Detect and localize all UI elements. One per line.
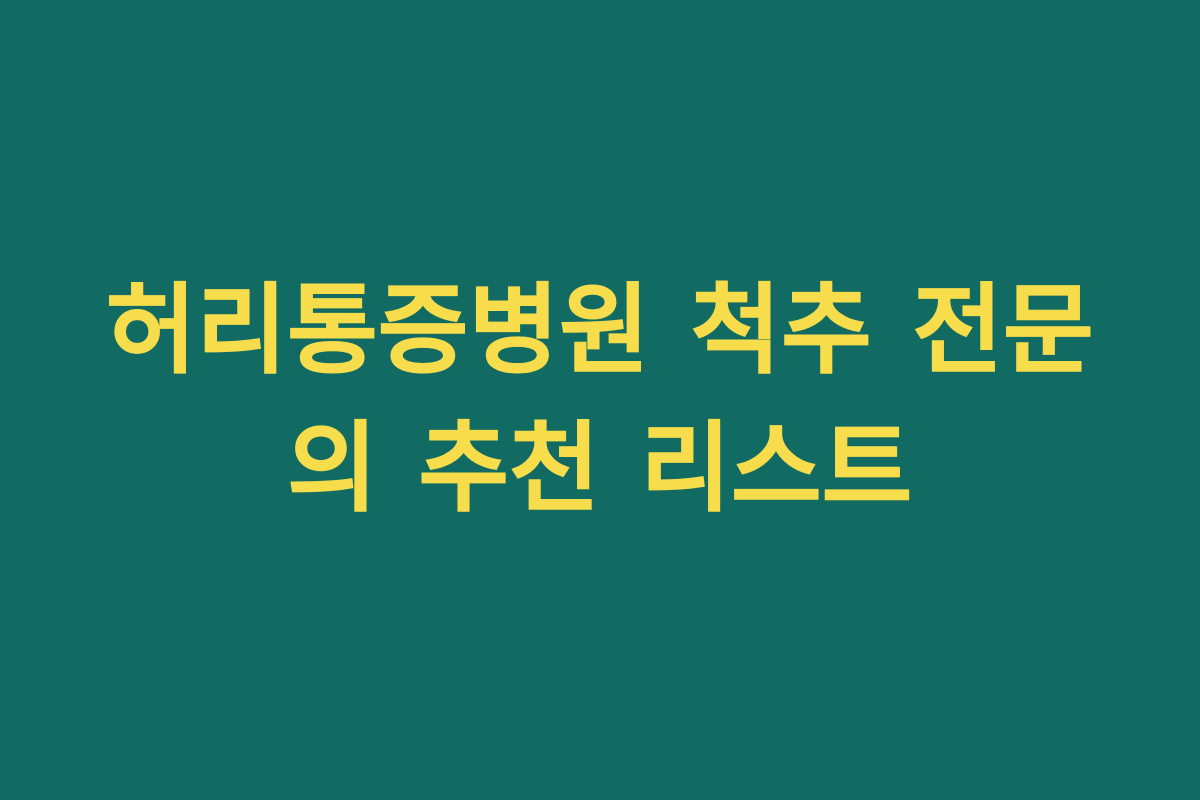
- banner-canvas: 허리통증병원 척추 전문의 추천 리스트: [0, 0, 1200, 800]
- banner-headline: 허리통증병원 척추 전문의 추천 리스트: [95, 262, 1105, 538]
